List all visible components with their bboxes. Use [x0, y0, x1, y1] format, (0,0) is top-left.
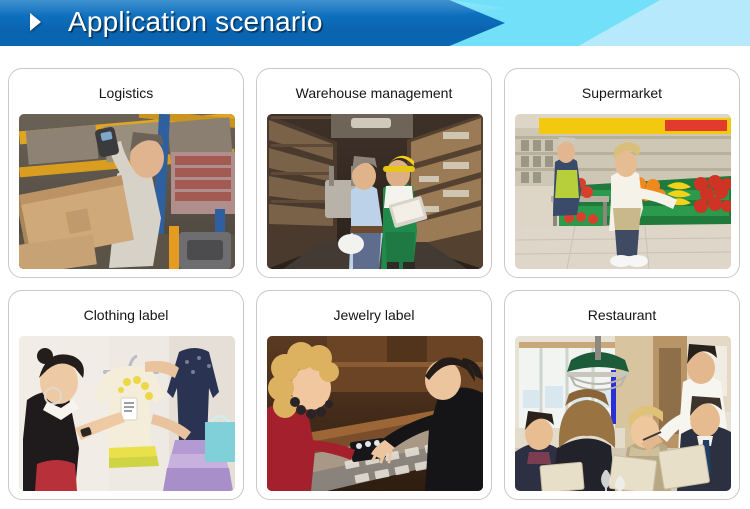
play-triangle-icon	[30, 13, 41, 31]
logistics-photo	[19, 114, 235, 269]
card-title: Clothing label	[9, 307, 243, 323]
restaurant-photo	[515, 336, 731, 491]
scenario-card-clothing-label[interactable]: Clothing label	[8, 290, 244, 500]
card-row-top: Logistics	[8, 68, 742, 278]
scenario-card-jewelry-label[interactable]: Jewelry label	[256, 290, 492, 500]
card-title: Warehouse management	[257, 85, 491, 101]
card-row-bottom: Clothing label	[8, 290, 742, 500]
card-title: Jewelry label	[257, 307, 491, 323]
jewelry-label-photo	[267, 336, 483, 491]
scenario-card-logistics[interactable]: Logistics	[8, 68, 244, 278]
scenario-card-supermarket[interactable]: Supermarket	[504, 68, 740, 278]
scenario-card-restaurant[interactable]: Restaurant	[504, 290, 740, 500]
page-title: Application scenario	[68, 6, 323, 38]
card-title: Supermarket	[505, 85, 739, 101]
card-title: Logistics	[9, 85, 243, 101]
warehouse-management-photo	[267, 114, 483, 269]
page-header-banner: Application scenario	[0, 0, 750, 46]
scenario-card-grid: Logistics	[8, 68, 742, 500]
clothing-label-photo	[19, 336, 235, 491]
card-title: Restaurant	[505, 307, 739, 323]
scenario-card-warehouse-management[interactable]: Warehouse management	[256, 68, 492, 278]
supermarket-photo	[515, 114, 731, 269]
